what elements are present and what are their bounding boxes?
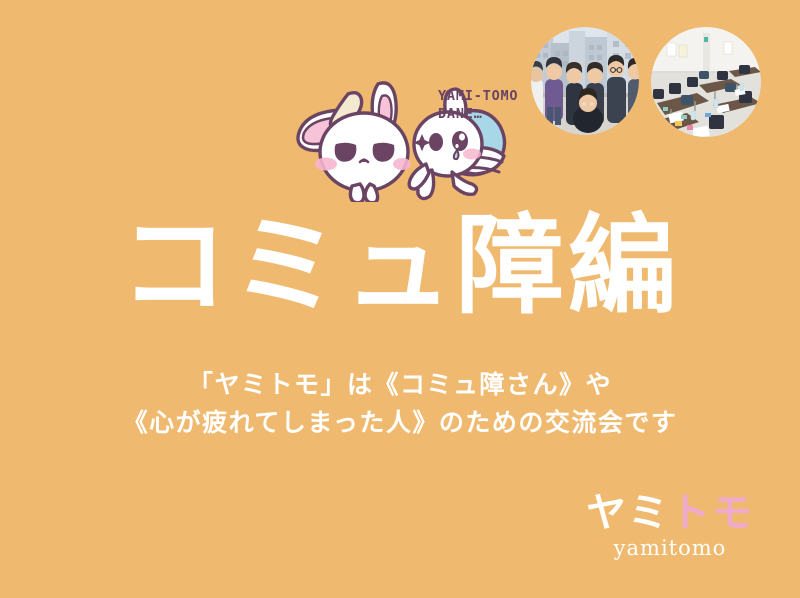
subtitle-line-2: 《心が疲れてしまった人》のための交流会です	[0, 404, 800, 442]
logo-wordmark-pink: トモ	[670, 490, 754, 536]
logo-wordmark: ヤミトモ	[560, 492, 780, 534]
page-title: コミュ障編	[0, 213, 800, 321]
logo-romaji: yamitomo	[560, 536, 780, 560]
meeting-room-photo	[651, 27, 761, 137]
subtitle-line-1: 「ヤミトモ」は《コミュ障さん》や	[0, 366, 800, 404]
logo-wordmark-white: ヤミ	[586, 490, 670, 536]
mascot-speech-line2: DANE…	[438, 106, 483, 122]
mascot-illustration: YAMI-TOMO DANE…	[286, 78, 540, 202]
mascot-speech-line1: YAMI-TOMO	[438, 88, 518, 104]
subtitle: 「ヤミトモ」は《コミュ障さん》や 《心が疲れてしまった人》のための交流会です	[0, 366, 800, 441]
group-photo	[531, 27, 639, 135]
brand-logo: ヤミトモ yamitomo	[560, 492, 780, 560]
slide-canvas: YAMI-TOMO DANE… コミュ障編 「ヤミトモ」は《コミュ障さん》や 《…	[0, 0, 800, 598]
